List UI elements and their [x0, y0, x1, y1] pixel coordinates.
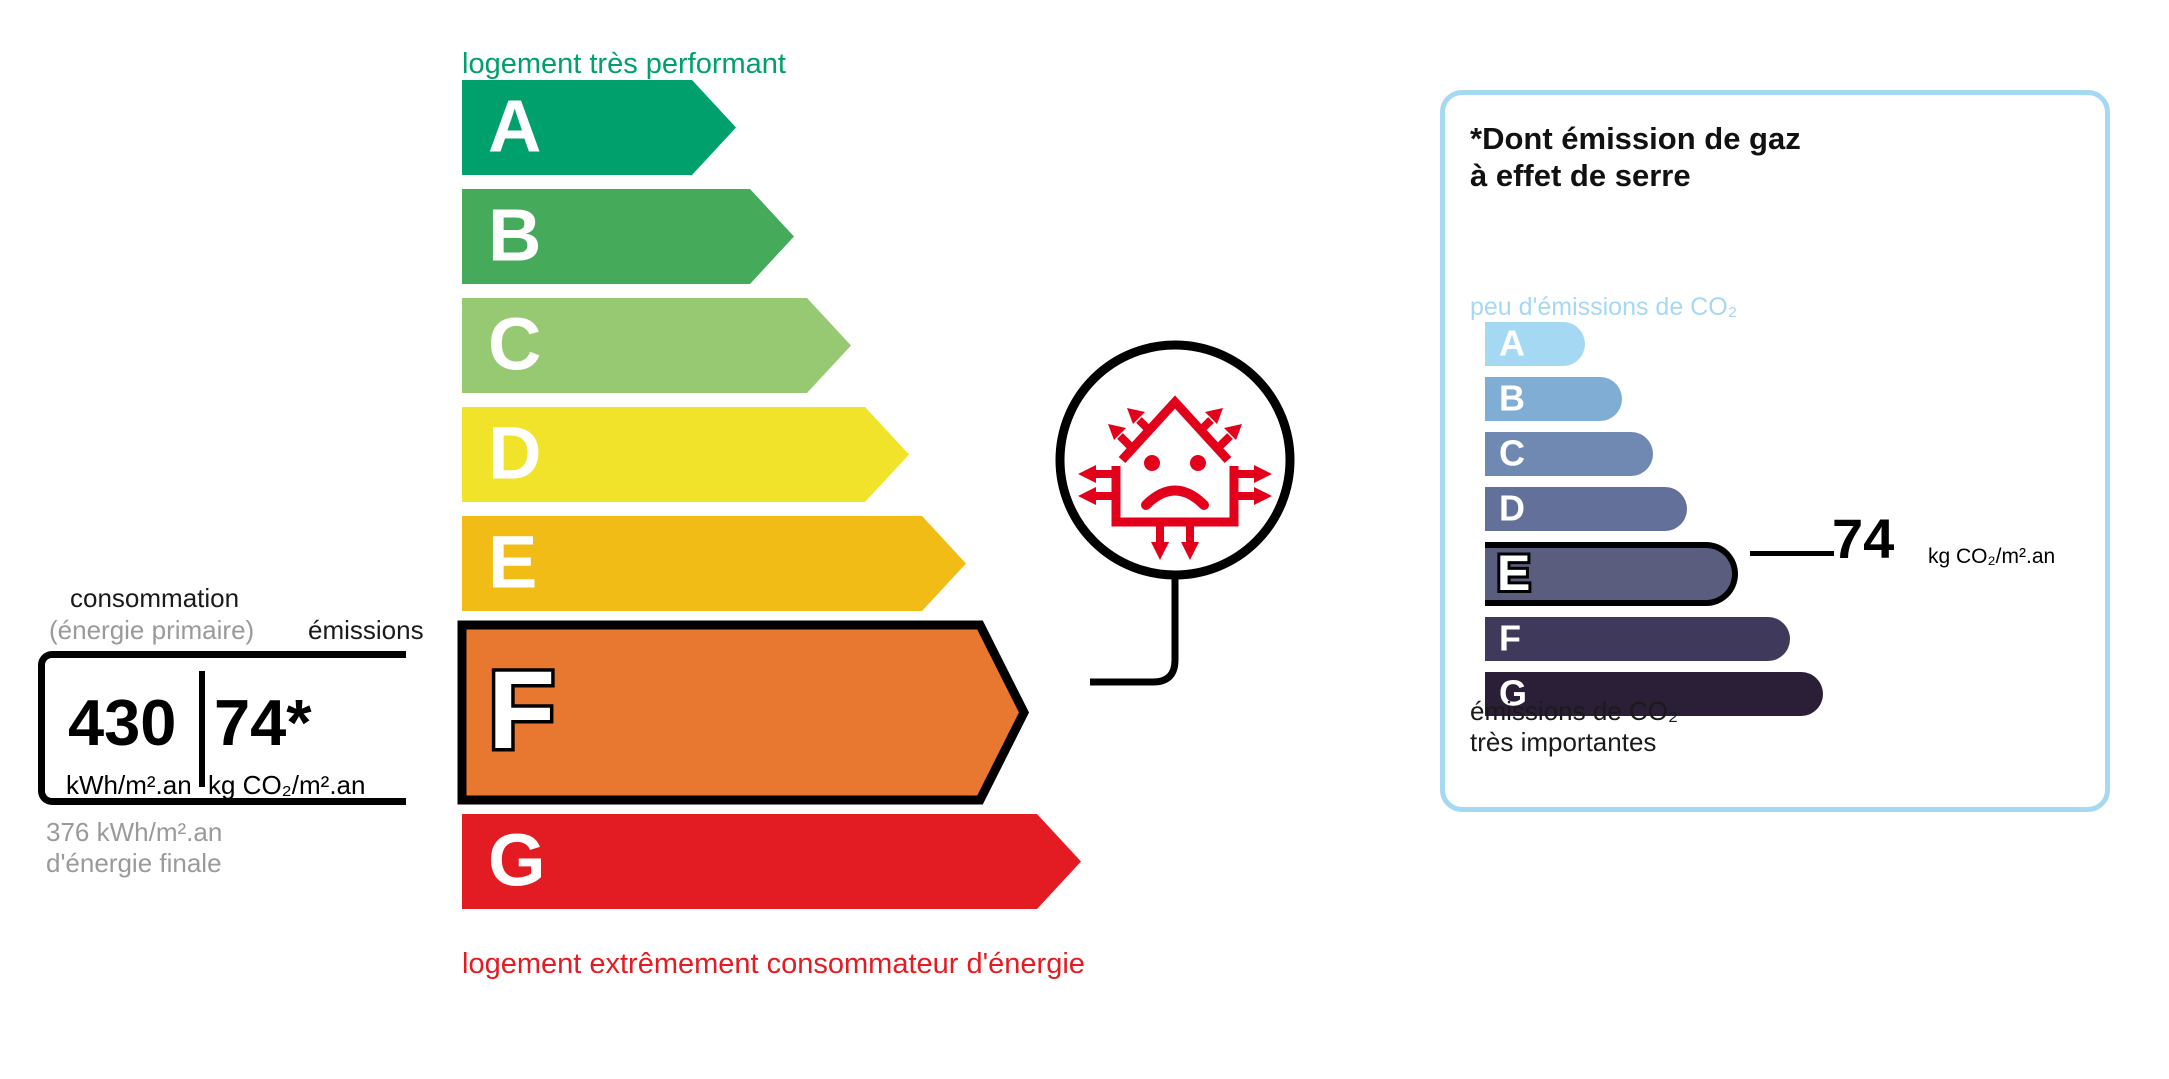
energy-band-letter-g: G	[488, 823, 546, 897]
consumption-unit: kWh/m².an	[66, 772, 192, 798]
energy-band-arrow	[462, 516, 976, 621]
energy-band-letter-b: B	[488, 198, 541, 272]
co2-bar-e: E	[1485, 542, 1738, 606]
co2-bar-c: C	[1485, 432, 1653, 476]
house-callout	[1020, 340, 1320, 720]
co2-bar-letter-f: F	[1499, 620, 1521, 656]
energy-band-f: F	[462, 625, 1034, 800]
label-energie-primaire: (énergie primaire)	[49, 615, 254, 646]
co2-bar-f: F	[1485, 617, 1790, 661]
co2-bar-letter-e: E	[1497, 548, 1530, 598]
energy-band-letter-a: A	[488, 89, 541, 163]
energy-band-letter-e: E	[488, 525, 537, 599]
energy-band-d: D	[462, 407, 919, 502]
consumption-value: 430	[68, 690, 176, 755]
final-energy-note: 376 kWh/m².and'énergie finale	[46, 817, 222, 878]
energy-band-c: C	[462, 298, 861, 393]
emissions-value: 74*	[214, 690, 312, 755]
co2-bar-a: A	[1485, 322, 1585, 366]
co2-bar-letter-a: A	[1499, 325, 1525, 361]
energy-band-letter-c: C	[488, 307, 541, 381]
energy-band-e: E	[462, 516, 976, 611]
co2-bar-d: D	[1485, 487, 1687, 531]
sad-house-heat-loss-icon	[1020, 340, 1320, 720]
co2-leader-line	[1750, 551, 1834, 556]
co2-bar-b: B	[1485, 377, 1622, 421]
scale-top-caption: logement très performant	[462, 48, 786, 81]
energy-band-g: G	[462, 814, 1091, 909]
energy-band-b: B	[462, 189, 804, 284]
co2-top-caption: peu d'émissions de CO₂	[1470, 293, 1737, 322]
co2-bar-letter-c: C	[1499, 435, 1525, 471]
co2-bottom-caption: émissions de CO₂très importantes	[1470, 696, 1678, 758]
co2-value: 74	[1832, 511, 1894, 567]
scale-bottom-caption: logement extrêmement consommateur d'éner…	[462, 948, 1085, 981]
consumption-labels: consommation (énergie primaire) émission…	[48, 585, 468, 653]
co2-bar-letter-b: B	[1499, 380, 1525, 416]
co2-bar-letter-d: D	[1499, 490, 1525, 526]
label-emissions: émissions	[308, 615, 424, 646]
energy-band-letter-f: F	[488, 655, 555, 765]
co2-panel-title: *Dont émission de gazà effet de serre	[1470, 120, 1801, 194]
co2-value-unit: kg CO₂/m².an	[1928, 546, 2055, 567]
value-divider	[199, 671, 205, 787]
label-consommation: consommation	[70, 583, 239, 614]
energy-band-letter-d: D	[488, 416, 541, 490]
emissions-unit: kg CO₂/m².an	[208, 772, 365, 798]
energy-band-arrow	[462, 814, 1091, 919]
energy-band-a: A	[462, 80, 746, 175]
